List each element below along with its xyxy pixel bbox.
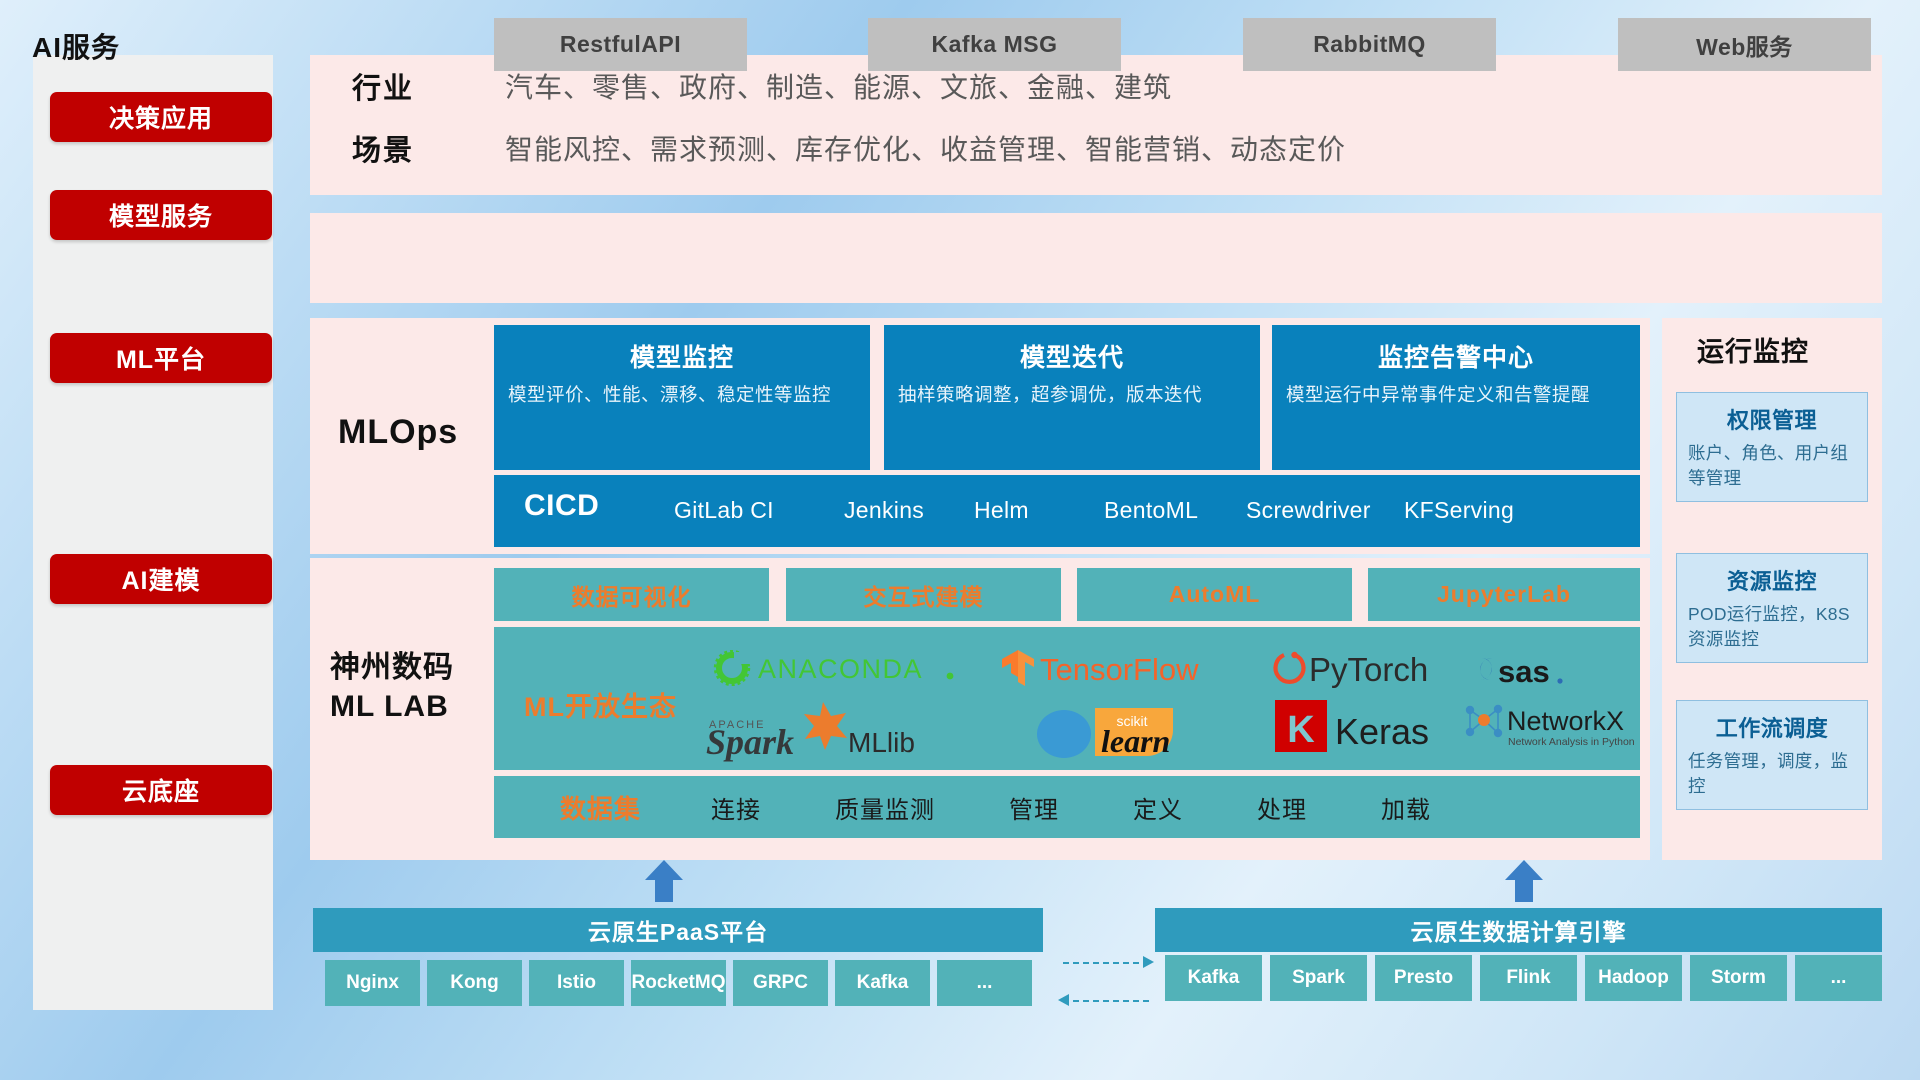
svg-text:PyTorch: PyTorch <box>1309 651 1428 688</box>
diagram-canvas: 决策应用 模型服务 ML平台 AI建模 云底座 行业 汽车、零售、政府、制造、能… <box>0 0 1920 1080</box>
ml-lab-line1: 神州数码 <box>330 648 454 687</box>
dataset-item-define[interactable]: 定义 <box>1133 790 1183 825</box>
apache-spark-mllib-logo: APACHE Spark MLlib <box>706 700 946 767</box>
base-chip-nginx[interactable]: Nginx <box>325 960 420 1006</box>
cicd-bar: CICD GitLab CI Jenkins Helm BentoML Scre… <box>494 475 1640 547</box>
svg-text:Keras: Keras <box>1335 711 1429 752</box>
pytorch-logo: PyTorch <box>1265 648 1465 695</box>
stage-label: 决策应用 <box>109 99 213 135</box>
stage-label: 模型服务 <box>109 197 213 233</box>
dashed-arrowhead-left <box>1058 994 1069 1006</box>
svg-text:ANACONDA: ANACONDA <box>758 654 923 684</box>
chip-label: Web服务 <box>1696 28 1793 62</box>
bar-label: 云原生数据计算引擎 <box>1411 913 1627 947</box>
base-chip-kafka-right[interactable]: Kafka <box>1165 955 1262 1001</box>
chip-label: Nginx <box>346 973 399 994</box>
tab-automl[interactable]: AutoML <box>1077 568 1352 621</box>
cicd-item-helm[interactable]: Helm <box>974 497 1064 524</box>
stage-chip-ai-modeling[interactable]: AI建模 <box>50 554 272 604</box>
dashed-arrow-left <box>1063 1000 1149 1002</box>
dataset-item-quality[interactable]: 质量监测 <box>835 790 935 825</box>
monitor-card-resources[interactable]: 资源监控 POD运行监控，K8S资源监控 <box>1676 553 1868 663</box>
cicd-item-jenkins[interactable]: Jenkins <box>844 497 916 524</box>
chip-label: Kafka MSG <box>932 31 1058 58</box>
dataset-item-manage[interactable]: 管理 <box>1009 790 1059 825</box>
svg-text:sas: sas <box>1498 654 1550 689</box>
base-chip-flink[interactable]: Flink <box>1480 955 1577 1001</box>
chip-label: RabbitMQ <box>1313 31 1426 58</box>
base-chip-hadoop[interactable]: Hadoop <box>1585 955 1682 1001</box>
ai-service-chip-web-service[interactable]: Web服务 <box>1618 18 1871 71</box>
up-arrow-paas <box>643 860 683 907</box>
monitor-card-workflow[interactable]: 工作流调度 任务管理，调度，监控 <box>1676 700 1868 810</box>
card-title: 模型监控 <box>494 338 870 374</box>
chip-label: GRPC <box>753 973 808 994</box>
mlops-label: MLOps <box>338 413 458 452</box>
chip-label: Istio <box>557 973 596 994</box>
anaconda-logo: ANACONDA <box>712 650 958 691</box>
chip-label: Kafka <box>857 973 909 994</box>
tab-label: JupyterLab <box>1437 581 1571 608</box>
cicd-item-gitlab-ci[interactable]: GitLab CI <box>674 497 792 524</box>
monitor-card-desc: 账户、角色、用户组等管理 <box>1677 441 1867 502</box>
monitor-card-title: 资源监控 <box>1677 564 1867 596</box>
scenario-list: 智能风控、需求预测、库存优化、收益管理、智能营销、动态定价 <box>505 128 1346 168</box>
monitor-card-title: 工作流调度 <box>1677 711 1867 743</box>
mlops-card-model-iteration[interactable]: 模型迭代 抽样策略调整，超参调优，版本迭代 <box>884 325 1260 470</box>
base-chip-rocketmq[interactable]: RocketMQ <box>631 960 726 1006</box>
svg-text:learn: learn <box>1101 723 1170 759</box>
base-chip-grpc[interactable]: GRPC <box>733 960 828 1006</box>
svg-text:NetworkX: NetworkX <box>1507 706 1624 736</box>
industry-list: 汽车、零售、政府、制造、能源、文旅、金融、建筑 <box>505 66 1172 106</box>
stage-label: AI建模 <box>121 561 200 597</box>
dataset-band: 数据集 连接 质量监测 管理 定义 处理 加载 <box>494 776 1640 838</box>
up-arrow-data-engine <box>1503 860 1543 907</box>
base-chip-istio[interactable]: Istio <box>529 960 624 1006</box>
tab-label: AutoML <box>1169 581 1261 608</box>
card-title: 模型迭代 <box>884 338 1260 374</box>
ai-service-chip-restfulapi[interactable]: RestfulAPI <box>494 18 747 71</box>
keras-logo: K Keras <box>1275 698 1465 761</box>
tab-jupyterlab[interactable]: JupyterLab <box>1368 568 1640 621</box>
cloud-native-data-engine-bar[interactable]: 云原生数据计算引擎 <box>1155 908 1882 952</box>
bar-label: 云原生PaaS平台 <box>588 913 768 947</box>
cloud-native-paas-bar[interactable]: 云原生PaaS平台 <box>313 908 1043 952</box>
networkx-logo: NetworkX Network Analysis in Python <box>1462 700 1642 763</box>
ml-ecosystem-label: ML开放生态 <box>524 685 677 724</box>
tab-data-visualization[interactable]: 数据可视化 <box>494 568 769 621</box>
chip-label: Presto <box>1394 968 1453 989</box>
dataset-item-load[interactable]: 加载 <box>1381 790 1431 825</box>
dataset-label: 数据集 <box>560 789 641 826</box>
monitor-card-desc: 任务管理，调度，监控 <box>1677 749 1867 810</box>
mlops-card-alert-center[interactable]: 监控告警中心 模型运行中异常事件定义和告警提醒 <box>1272 325 1640 470</box>
svg-text:K: K <box>1287 709 1315 751</box>
tab-label: 交互式建模 <box>864 578 984 612</box>
stage-chip-ml-platform[interactable]: ML平台 <box>50 333 272 383</box>
tab-interactive-modeling[interactable]: 交互式建模 <box>786 568 1061 621</box>
chip-label: Storm <box>1711 968 1766 989</box>
ml-lab-label: 神州数码 ML LAB <box>330 648 454 726</box>
dataset-item-connect[interactable]: 连接 <box>711 790 761 825</box>
tensorflow-logo: TensorFlow <box>1000 648 1240 693</box>
ai-service-label: AI服务 <box>32 26 120 66</box>
tab-label: 数据可视化 <box>572 578 692 612</box>
chip-label: Spark <box>1292 968 1345 989</box>
svg-text:MLlib: MLlib <box>848 727 915 758</box>
base-chip-more-right[interactable]: ... <box>1795 955 1882 1001</box>
networkx-subtitle: Network Analysis in Python <box>1508 736 1635 748</box>
cicd-label: CICD <box>524 489 644 523</box>
chip-label: Kafka <box>1188 968 1240 989</box>
svg-text:TensorFlow: TensorFlow <box>1040 652 1199 687</box>
base-chip-more-left[interactable]: ... <box>937 960 1032 1006</box>
svg-text:Spark: Spark <box>706 722 794 762</box>
chip-label: RestfulAPI <box>560 31 681 58</box>
cicd-item-bentoml[interactable]: BentoML <box>1104 497 1190 524</box>
ai-service-chip-kafka-msg[interactable]: Kafka MSG <box>868 18 1121 71</box>
base-chip-storm[interactable]: Storm <box>1690 955 1787 1001</box>
chip-label: Flink <box>1506 968 1550 989</box>
industry-label: 行业 <box>352 65 414 107</box>
chip-label: RocketMQ <box>632 973 726 994</box>
mlops-card-model-monitoring[interactable]: 模型监控 模型评价、性能、漂移、稳定性等监控 <box>494 325 870 470</box>
cicd-item-screwdriver[interactable]: Screwdriver <box>1246 497 1348 524</box>
stage-chip-cloud-base[interactable]: 云底座 <box>50 765 272 815</box>
monitor-card-desc: POD运行监控，K8S资源监控 <box>1677 602 1867 663</box>
dataset-item-process[interactable]: 处理 <box>1257 790 1307 825</box>
base-chip-kong[interactable]: Kong <box>427 960 522 1006</box>
monitor-card-permissions[interactable]: 权限管理 账户、角色、用户组等管理 <box>1676 392 1868 502</box>
base-chip-spark[interactable]: Spark <box>1270 955 1367 1001</box>
stage-chip-decision-apps[interactable]: 决策应用 <box>50 92 272 142</box>
scikit-learn-logo: scikit learn <box>1033 700 1203 767</box>
ml-lab-line2: ML LAB <box>330 687 454 726</box>
card-desc: 模型运行中异常事件定义和告警提醒 <box>1272 382 1640 409</box>
runtime-monitor-title: 运行监控 <box>1697 330 1809 369</box>
sas-logo: sas <box>1472 650 1612 695</box>
stage-label: 云底座 <box>122 772 200 808</box>
ai-service-chip-rabbitmq[interactable]: RabbitMQ <box>1243 18 1496 71</box>
card-desc: 模型评价、性能、漂移、稳定性等监控 <box>494 382 870 409</box>
scenario-label: 场景 <box>352 127 414 169</box>
card-title: 监控告警中心 <box>1272 338 1640 374</box>
cicd-item-kfserving[interactable]: KFServing <box>1404 497 1499 524</box>
monitor-card-title: 权限管理 <box>1677 403 1867 435</box>
chip-label: Hadoop <box>1598 968 1669 989</box>
stage-chip-model-service[interactable]: 模型服务 <box>50 190 272 240</box>
dashed-arrowhead-right <box>1143 956 1154 968</box>
base-chip-kafka-left[interactable]: Kafka <box>835 960 930 1006</box>
chip-label: Kong <box>450 973 499 994</box>
chip-label: ... <box>977 973 993 994</box>
ai-service-panel <box>310 213 1882 303</box>
base-chip-presto[interactable]: Presto <box>1375 955 1472 1001</box>
card-desc: 抽样策略调整，超参调优，版本迭代 <box>884 382 1260 409</box>
dashed-arrow-right <box>1063 962 1149 964</box>
stage-label: ML平台 <box>116 340 206 376</box>
chip-label: ... <box>1831 968 1847 989</box>
